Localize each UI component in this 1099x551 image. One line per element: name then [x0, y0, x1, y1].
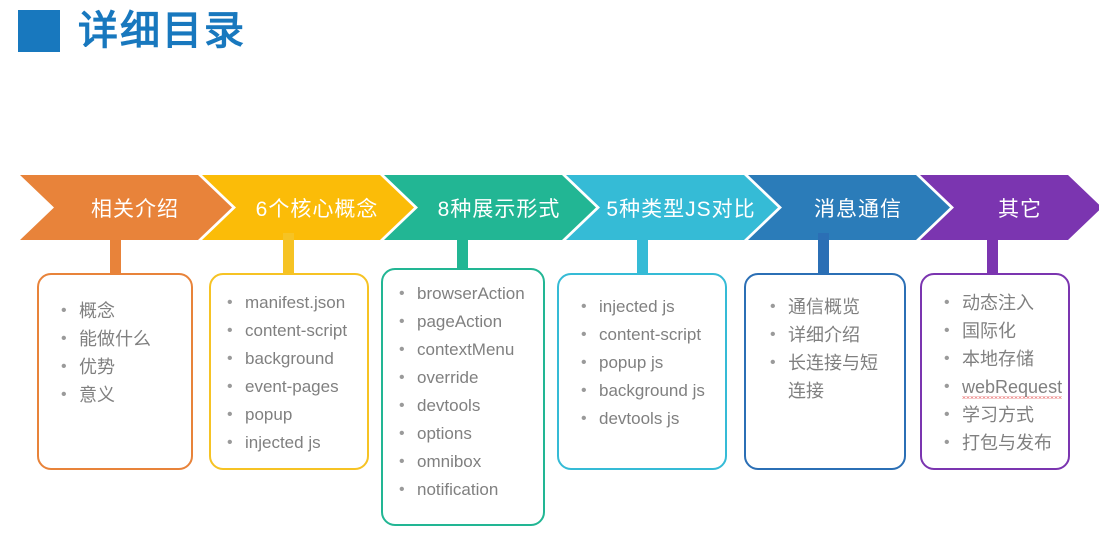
panel-list: 通信概览详细介绍长连接与短连接 — [746, 275, 904, 405]
list-item: background js — [573, 377, 725, 405]
list-item: 长连接与短连接 — [762, 349, 904, 405]
list-item: pageAction — [391, 308, 543, 336]
list-item: injected js — [219, 429, 367, 457]
connector-stem — [637, 233, 648, 273]
ribbon-step-3[interactable]: 8种展示形式 — [384, 175, 596, 240]
connector-stem — [283, 233, 294, 273]
ribbon-step-label: 8种展示形式 — [420, 193, 561, 223]
panel-list: browserActionpageActioncontextMenuoverri… — [383, 270, 543, 504]
list-item: popup js — [573, 349, 725, 377]
list-item: webRequest — [936, 373, 1068, 401]
panel-list: manifest.jsoncontent-scriptbackgroundeve… — [211, 275, 367, 457]
list-item: content-script — [219, 317, 367, 345]
list-item: 详细介绍 — [762, 321, 904, 349]
process-ribbon: 相关介绍6个核心概念8种展示形式5种类型JS对比消息通信其它 — [0, 175, 1099, 240]
list-item: 能做什么 — [53, 325, 191, 353]
connector-stem — [457, 233, 468, 268]
list-item: contextMenu — [391, 336, 543, 364]
ribbon-step-5[interactable]: 消息通信 — [748, 175, 950, 240]
list-item: 概念 — [53, 297, 191, 325]
list-item: injected js — [573, 293, 725, 321]
list-item: 意义 — [53, 381, 191, 409]
list-item: 打包与发布 — [936, 429, 1068, 457]
list-item: background — [219, 345, 367, 373]
page-title-text: 详细目录 — [78, 11, 246, 51]
panel-display-forms: browserActionpageActioncontextMenuoverri… — [381, 268, 545, 526]
ribbon-step-label: 消息通信 — [796, 193, 902, 223]
list-item: options — [391, 420, 543, 448]
list-item: 通信概览 — [762, 293, 904, 321]
connector-stem — [818, 233, 829, 273]
ribbon-step-label: 5种类型JS对比 — [588, 193, 755, 223]
connector-stem — [987, 233, 998, 273]
list-item: browserAction — [391, 280, 543, 308]
list-item: 学习方式 — [936, 401, 1068, 429]
panel-list: 概念能做什么优势意义 — [39, 275, 191, 409]
list-item: 国际化 — [936, 317, 1068, 345]
list-item: manifest.json — [219, 289, 367, 317]
list-item: 本地存储 — [936, 345, 1068, 373]
connector-stem — [110, 233, 121, 273]
title-square-icon — [18, 10, 60, 52]
panel-intro: 概念能做什么优势意义 — [37, 273, 193, 470]
list-item: popup — [219, 401, 367, 429]
panel-list: 动态注入国际化本地存储webRequest学习方式打包与发布 — [922, 275, 1068, 457]
list-item: devtools js — [573, 405, 725, 433]
panel-messaging: 通信概览详细介绍长连接与短连接 — [744, 273, 906, 470]
list-item: 优势 — [53, 353, 191, 381]
ribbon-step-1[interactable]: 相关介绍 — [20, 175, 232, 240]
ribbon-step-label: 相关介绍 — [73, 193, 179, 223]
panel-core-concepts: manifest.jsoncontent-scriptbackgroundeve… — [209, 273, 369, 470]
list-item: notification — [391, 476, 543, 504]
list-item: omnibox — [391, 448, 543, 476]
list-item: 动态注入 — [936, 289, 1068, 317]
panel-js-types: injected jscontent-scriptpopup jsbackgro… — [557, 273, 727, 470]
ribbon-step-label: 6个核心概念 — [238, 193, 379, 223]
list-item: override — [391, 364, 543, 392]
list-item: devtools — [391, 392, 543, 420]
panel-others: 动态注入国际化本地存储webRequest学习方式打包与发布 — [920, 273, 1070, 470]
page-title: 详细目录 — [18, 10, 246, 52]
panel-list: injected jscontent-scriptpopup jsbackgro… — [559, 275, 725, 433]
misspelled-term: webRequest — [962, 377, 1062, 400]
list-item: event-pages — [219, 373, 367, 401]
ribbon-step-2[interactable]: 6个核心概念 — [202, 175, 414, 240]
list-item: content-script — [573, 321, 725, 349]
slide-canvas: 详细目录 相关介绍6个核心概念8种展示形式5种类型JS对比消息通信其它 概念能做… — [0, 0, 1099, 551]
ribbon-step-4[interactable]: 5种类型JS对比 — [566, 175, 778, 240]
ribbon-step-label: 其它 — [980, 193, 1042, 223]
